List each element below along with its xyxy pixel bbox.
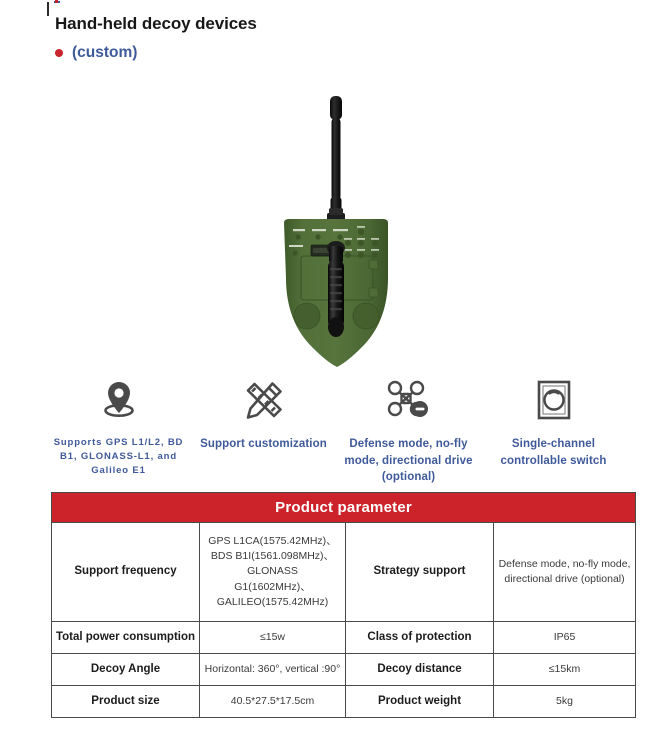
feature-label: Supports GPS L1/L2, BD B1, GLONASS-L1, a…	[50, 436, 188, 477]
page-edge-mark	[47, 2, 49, 16]
param-value: Horizontal: 360°, vertical :90°	[200, 654, 346, 686]
param-value: GPS L1CA(1575.42MHz)、 BDS B1I(1561.098MH…	[200, 523, 346, 622]
table-row: Decoy Angle Horizontal: 360°, vertical :…	[52, 654, 636, 686]
pencil-ruler-icon	[243, 376, 285, 424]
param-value: ≤15km	[494, 654, 636, 686]
table-row: Product size 40.5*27.5*17.5cm Product we…	[52, 686, 636, 718]
page-subtitle: (custom)	[72, 44, 137, 62]
feature-label: Single-channel controllable switch	[485, 436, 623, 469]
param-key: Total power consumption	[52, 622, 200, 654]
feature-item-defense-mode: Defense mode, no-fly mode, directional d…	[336, 376, 481, 486]
param-key: Class of protection	[346, 622, 494, 654]
bullet-icon	[55, 49, 63, 57]
table-row: Support frequency GPS L1CA(1575.42MHz)、 …	[52, 523, 636, 622]
drone-block-icon	[387, 376, 431, 424]
product-image	[262, 82, 412, 367]
table-row: Total power consumption ≤15w Class of pr…	[52, 622, 636, 654]
feature-label: Defense mode, no-fly mode, directional d…	[340, 436, 478, 486]
antenna	[330, 96, 342, 216]
handle-grip	[327, 241, 345, 337]
feature-item-switch: Single-channel controllable switch	[481, 376, 626, 486]
table-title: Product parameter	[52, 493, 636, 523]
param-key: Product weight	[346, 686, 494, 718]
feature-item-gnss: Supports GPS L1/L2, BD B1, GLONASS-L1, a…	[46, 376, 191, 486]
feature-list: Supports GPS L1/L2, BD B1, GLONASS-L1, a…	[46, 376, 626, 486]
param-key: Support frequency	[52, 523, 200, 622]
feature-label: Support customization	[195, 436, 333, 453]
feature-item-customization: Support customization	[191, 376, 336, 486]
table-header-row: Product parameter	[52, 493, 636, 523]
param-key: Decoy Angle	[52, 654, 200, 686]
location-pin-icon	[99, 376, 139, 424]
param-value: 5kg	[494, 686, 636, 718]
param-key: Decoy distance	[346, 654, 494, 686]
param-value: IP65	[494, 622, 636, 654]
page-edge-red-dot	[55, 0, 58, 3]
param-value: 40.5*27.5*17.5cm	[200, 686, 346, 718]
document-page: Hand-held decoy devices (custom)	[0, 0, 671, 744]
param-value: Defense mode, no-fly mode, directional d…	[494, 523, 636, 622]
page-title: Hand-held decoy devices	[55, 14, 257, 34]
param-key: Strategy support	[346, 523, 494, 622]
product-parameter-table: Product parameter Support frequency GPS …	[51, 492, 636, 718]
subtitle-row: (custom)	[55, 44, 137, 62]
param-value: ≤15w	[200, 622, 346, 654]
param-key: Product size	[52, 686, 200, 718]
power-switch-icon	[535, 376, 573, 424]
